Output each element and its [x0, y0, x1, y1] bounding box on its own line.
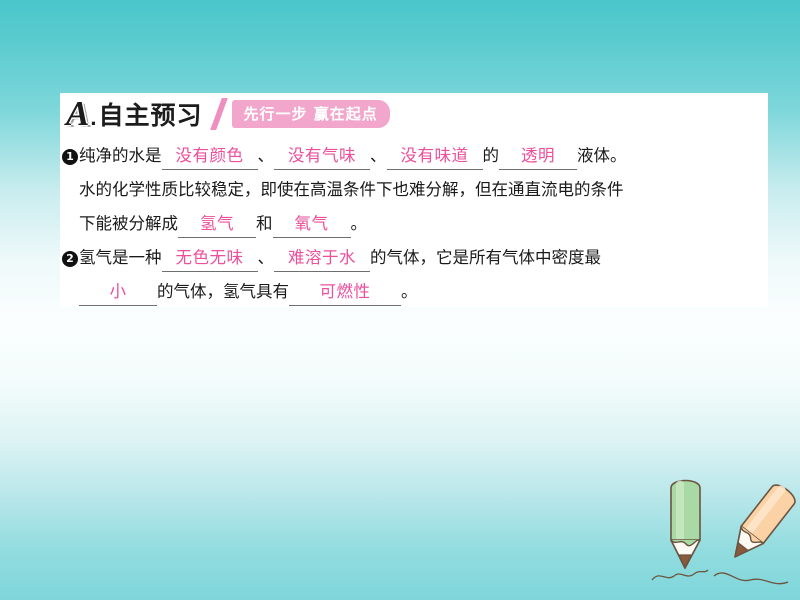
slide-canvas: A . 自主预习 先行一步 赢在起点 1纯净的水是没有颜色、没有气味、没有味道的…: [0, 0, 800, 600]
static-text: 的气体，氢气具有: [157, 282, 289, 301]
static-text: 氢气是一种: [79, 248, 162, 267]
question-line: 2氢气是一种无色无味、难溶于水的气体，它是所有气体中密度最: [62, 241, 768, 275]
answer-blank: 没有气味: [274, 144, 370, 170]
static-text: 水的化学性质比较稳定，即使在高温条件下也难分解，但在通直流电的条件: [79, 180, 624, 199]
static-text: 。: [351, 214, 368, 233]
section-letter: A: [66, 96, 89, 131]
static-text: 、: [258, 146, 275, 165]
static-text: 、: [370, 146, 387, 165]
squiggle-right-icon: [714, 573, 788, 584]
static-text: 液体。: [577, 146, 627, 165]
answer-blank: 透明: [499, 144, 577, 170]
static-text: 的气体，它是所有气体中密度最: [370, 248, 601, 267]
answer-blank: 难溶于水: [274, 246, 370, 272]
static-text: 下能被分解成: [79, 214, 178, 233]
answer-blank: 可燃性: [289, 280, 401, 306]
header-badge: 先行一步 赢在起点: [232, 100, 390, 128]
answer-blank: 无色无味: [162, 246, 258, 272]
question-list: 1纯净的水是没有颜色、没有气味、没有味道的透明液体。水的化学性质比较稳定，即使在…: [62, 139, 768, 309]
question-line: 水的化学性质比较稳定，即使在高温条件下也难分解，但在通直流电的条件: [62, 173, 768, 207]
static-text: 的: [483, 146, 500, 165]
answer-blank: 氢气: [178, 212, 256, 238]
static-text: 纯净的水是: [79, 146, 162, 165]
content-panel: A . 自主预习 先行一步 赢在起点 1纯净的水是没有颜色、没有气味、没有味道的…: [60, 93, 768, 307]
item-marker: 1: [62, 149, 78, 165]
answer-blank: 小: [79, 280, 157, 306]
answer-blank: 没有颜色: [162, 144, 258, 170]
section-header: A . 自主预习 先行一步 赢在起点: [66, 93, 390, 133]
page-title: 自主预习: [98, 96, 202, 132]
pencils-decoration: [648, 470, 800, 600]
static-text: 和: [256, 214, 273, 233]
squiggle-left-icon: [652, 570, 708, 580]
section-dot: .: [89, 105, 98, 131]
answer-blank: 氧气: [273, 212, 351, 238]
static-text: 。: [401, 282, 418, 301]
item-marker: 2: [62, 251, 78, 267]
static-text: 、: [258, 248, 275, 267]
pencil-green-icon: [671, 481, 700, 569]
slash-icon: [209, 98, 231, 130]
pencil-orange-icon: [724, 481, 799, 566]
question-line: 1纯净的水是没有颜色、没有气味、没有味道的透明液体。: [62, 139, 768, 173]
answer-blank: 没有味道: [387, 144, 483, 170]
question-line: 小的气体，氢气具有可燃性。: [62, 275, 768, 309]
question-line: 下能被分解成氢气和氧气。: [62, 207, 768, 241]
